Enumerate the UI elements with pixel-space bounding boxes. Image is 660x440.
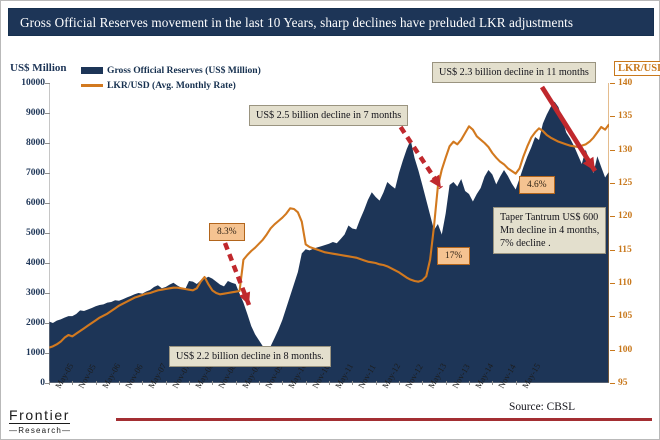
y-axis-left-tick: 9000 xyxy=(3,108,45,118)
y-axis-left-tick: 10000 xyxy=(3,78,45,88)
frontier-research-logo: Frontier —Research— xyxy=(9,407,71,435)
x-axis-tickmark xyxy=(259,381,260,385)
y-axis-right-tick: 110 xyxy=(618,278,632,288)
y-axis-left-tick: 0 xyxy=(3,378,45,388)
legend-item-label: Gross Official Reserves (US$ Million) xyxy=(107,65,261,76)
y-axis-right-tick: 115 xyxy=(618,245,632,255)
y-axis-left-tick: 1000 xyxy=(3,348,45,358)
source-note: Source: CBSL xyxy=(509,401,575,413)
x-axis-tickmark xyxy=(72,381,73,385)
y-axis-right: 95100105110115120125130135140 xyxy=(610,83,656,383)
y-axis-left-tick: 6000 xyxy=(3,198,45,208)
x-axis-tickmark xyxy=(96,381,97,385)
y-axis-right-tick: 120 xyxy=(618,211,632,221)
y-axis-left-tick: 7000 xyxy=(3,168,45,178)
y-axis-left-tick: 2000 xyxy=(3,318,45,328)
callout-taper-tantrum: Taper Tantrum US$ 600 Mn decline in 4 mo… xyxy=(493,207,606,254)
callout-2011-decline: US$ 2.5 billion decline in 7 months xyxy=(249,105,408,126)
x-axis-tickmark xyxy=(282,381,283,385)
y-axis-right-tickmark xyxy=(610,216,615,217)
chart-canvas: Gross Official Reserves movement in the … xyxy=(0,0,660,440)
y-axis-left-title: US$ Million xyxy=(10,62,67,74)
x-axis-tickmark xyxy=(516,381,517,385)
y-axis-right-tickmark xyxy=(610,183,615,184)
y-axis-right-tickmark xyxy=(610,250,615,251)
y-axis-left: 0100020003000400050006000700080009000100… xyxy=(1,83,45,383)
x-axis-tickmark xyxy=(49,381,50,385)
pct-label-8-3: 8.3% xyxy=(209,223,245,241)
y-axis-left-tick: 5000 xyxy=(3,228,45,238)
y-axis-right-tick: 105 xyxy=(618,311,632,321)
pct-label-4-6: 4.6% xyxy=(519,176,555,194)
x-axis-tickmark xyxy=(189,381,190,385)
y-axis-right-tick: 95 xyxy=(618,378,628,388)
x-axis-tickmark xyxy=(376,381,377,385)
x-axis-tickmark xyxy=(212,381,213,385)
x-axis-tickmark xyxy=(329,381,330,385)
x-axis-tickmark xyxy=(236,381,237,385)
page-title: Gross Official Reserves movement in the … xyxy=(8,8,654,36)
y-axis-left-tick: 4000 xyxy=(3,258,45,268)
y-axis-left-tick: 8000 xyxy=(3,138,45,148)
x-axis-tickmark xyxy=(446,381,447,385)
y-axis-right-tickmark xyxy=(610,350,615,351)
y-axis-right-title: LKR/USD xyxy=(614,61,660,76)
x-axis-tickmark xyxy=(422,381,423,385)
x-axis-tickmark xyxy=(166,381,167,385)
y-axis-right-tick: 140 xyxy=(618,78,632,88)
legend-item-reserves: Gross Official Reserves (US$ Million) xyxy=(81,65,261,76)
x-axis-tickmark xyxy=(469,381,470,385)
y-axis-right-tickmark xyxy=(610,283,615,284)
y-axis-right-tickmark xyxy=(610,83,615,84)
logo-wordmark: Frontier xyxy=(9,407,70,424)
area-swatch-icon xyxy=(81,67,103,74)
x-axis-tickmark xyxy=(119,381,120,385)
pct-label-17: 17% xyxy=(437,247,470,265)
y-axis-right-tick: 100 xyxy=(618,345,632,355)
x-axis-tickmark xyxy=(142,381,143,385)
x-axis-tickmark xyxy=(352,381,353,385)
y-axis-right-tick: 125 xyxy=(618,178,632,188)
callout-2008-decline: US$ 2.2 billion decline in 8 months. xyxy=(169,346,331,367)
callout-2014-decline: US$ 2.3 billion decline in 11 months xyxy=(432,62,596,83)
y-axis-right-tick: 135 xyxy=(618,111,632,121)
x-axis-tickmark xyxy=(306,381,307,385)
y-axis-right-tickmark xyxy=(610,150,615,151)
y-axis-left-tick: 3000 xyxy=(3,288,45,298)
logo-tagline: —Research— xyxy=(9,426,71,435)
y-axis-right-tick: 130 xyxy=(618,145,632,155)
x-axis-tickmark xyxy=(492,381,493,385)
y-axis-right-tickmark xyxy=(610,316,615,317)
footer-rule xyxy=(116,418,652,421)
y-axis-right-tickmark xyxy=(610,383,615,384)
x-axis-tickmark xyxy=(399,381,400,385)
y-axis-right-tickmark xyxy=(610,116,615,117)
